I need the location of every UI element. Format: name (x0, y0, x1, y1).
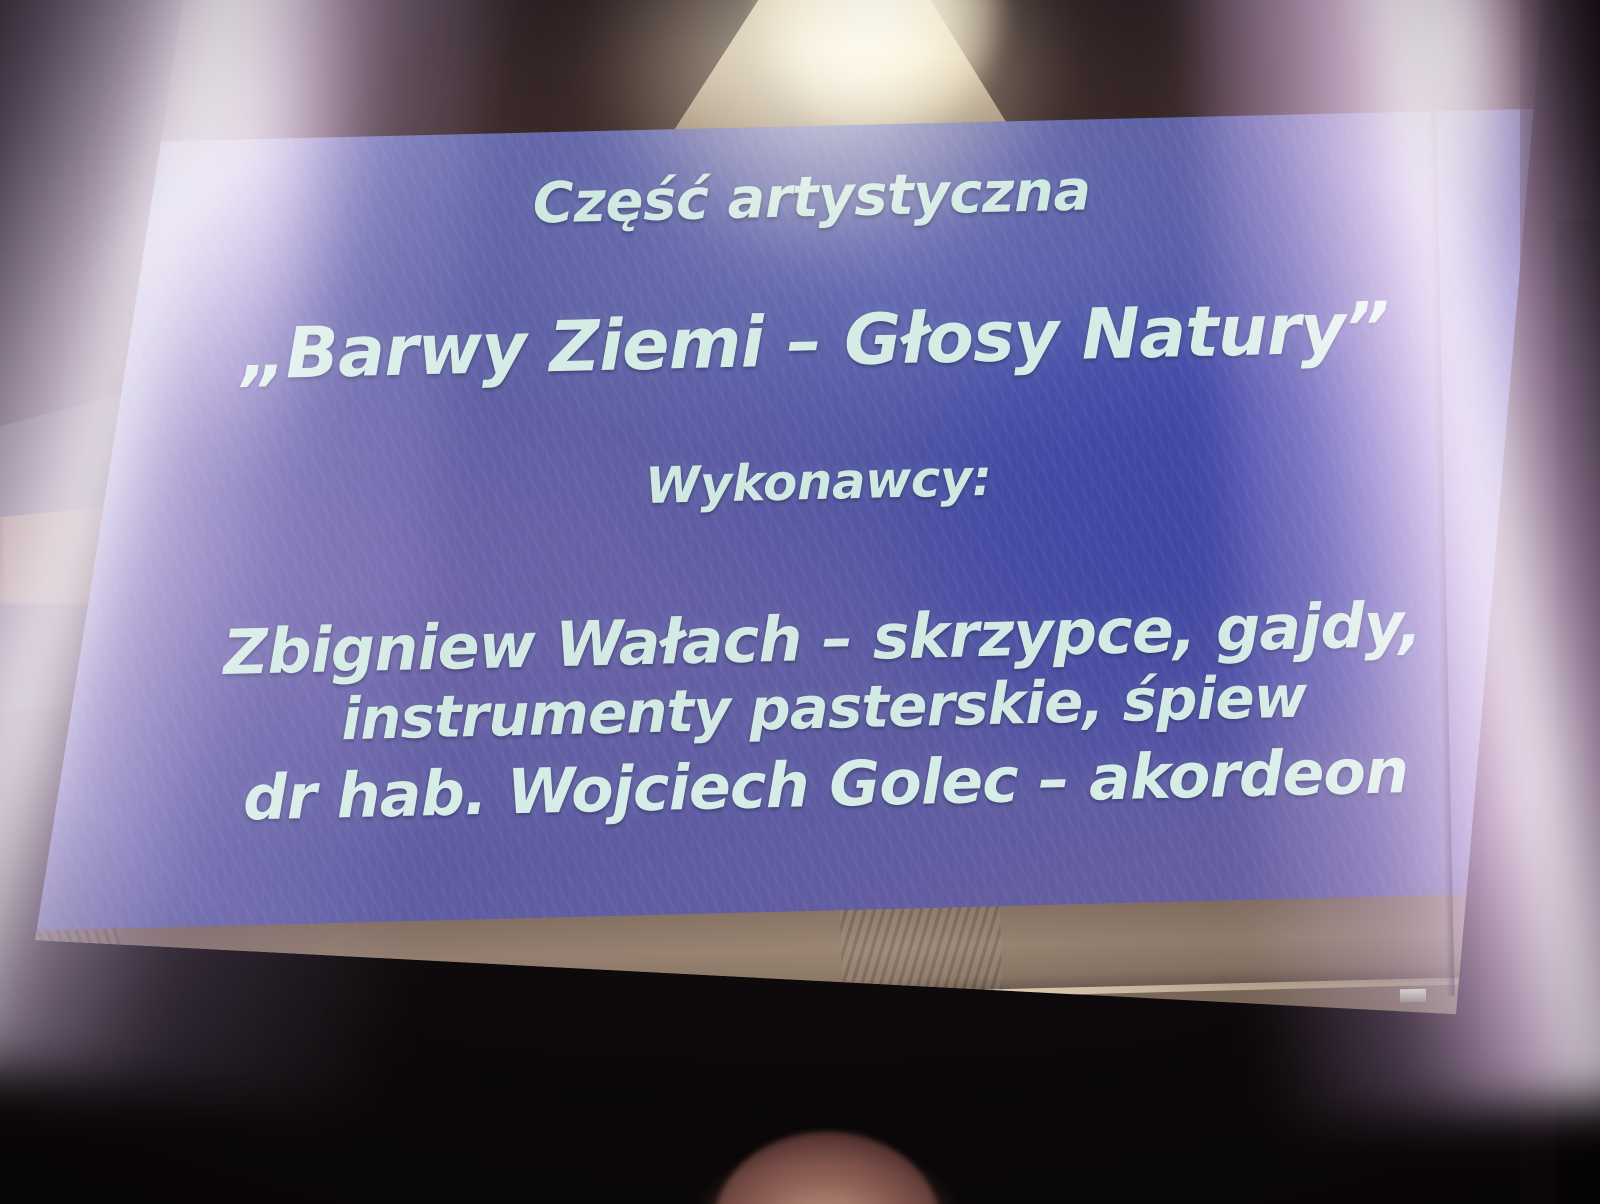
projection-screen: Część artystyczna „Barwy Ziemi – Głosy N… (0, 0, 1600, 1046)
slide-text-block: Część artystyczna „Barwy Ziemi – Głosy N… (0, 106, 1600, 966)
slide-canvas: Część artystyczna „Barwy Ziemi – Głosy N… (0, 106, 1600, 966)
slide-title: Część artystyczna (0, 148, 1600, 247)
hem-fold-left (0, 928, 122, 1018)
hem-fold-right (840, 906, 1002, 996)
screen-tension-weight (1400, 989, 1426, 1003)
hem-lip (0, 972, 1600, 1022)
slide-performers-label: Wykonawcy: (0, 436, 1600, 529)
right-curtain-edge (1556, 220, 1600, 1204)
projection-screen-area: Część artystyczna „Barwy Ziemi – Głosy N… (0, 0, 1600, 1204)
presentation-photo: Część artystyczna „Barwy Ziemi – Głosy N… (0, 0, 1600, 1204)
slide-subtitle: „Barwy Ziemi – Głosy Natury” (0, 284, 1600, 398)
